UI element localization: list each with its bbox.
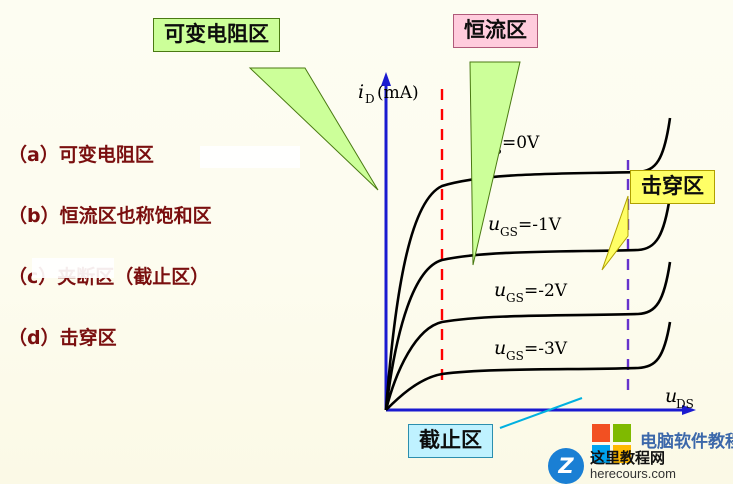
callout-cutoff: 截止区 <box>408 424 493 458</box>
curve-label-ugs-1v: u GS =-1V <box>488 213 562 239</box>
y-axis-label: i D (mA) <box>358 81 419 106</box>
svg-text:u: u <box>494 337 506 359</box>
svg-text:=0V: =0V <box>502 133 540 153</box>
curve-label-ugs-3v: u GS =-3V <box>494 337 568 363</box>
svg-text:DS: DS <box>676 397 694 411</box>
brand-name-cn: 这里教程网 <box>590 451 676 467</box>
list-item: （b）恒流区也称饱和区 <box>8 201 338 228</box>
svg-text:(mA): (mA) <box>377 83 419 103</box>
fet-output-characteristic-chart: i D (mA) u DS u GS =0V u GS =-1V <box>338 60 698 430</box>
white-smudge <box>32 258 114 278</box>
svg-text:GS: GS <box>506 291 524 305</box>
callout-breakdown: 击穿区 <box>630 170 715 204</box>
svg-text:=-1V: =-1V <box>518 215 562 235</box>
slide-canvas: （a）可变电阻区 （b）恒流区也称饱和区 （c）夹断区（截止区） （d）击穿区 <box>0 0 733 484</box>
svg-text:u: u <box>488 213 500 235</box>
svg-text:=-3V: =-3V <box>524 339 568 359</box>
brand-mark-icon: Z <box>548 448 584 484</box>
chart-axes <box>381 72 696 415</box>
brand-url: herecours.com <box>590 467 676 481</box>
brand-watermark: Z 这里教程网 herecours.com <box>548 448 676 484</box>
svg-text:u: u <box>494 279 506 301</box>
svg-text:u: u <box>472 131 484 153</box>
list-item: （d）击穿区 <box>8 323 338 350</box>
white-smudge <box>200 146 300 168</box>
svg-text:=-2V: =-2V <box>524 281 568 301</box>
x-axis-label: u DS <box>665 385 694 411</box>
svg-text:D: D <box>365 92 375 106</box>
curve-label-ugs-0v: u GS =0V <box>472 131 540 157</box>
callout-variable-resistance: 可变电阻区 <box>153 18 280 52</box>
svg-text:GS: GS <box>506 349 524 363</box>
curve-label-ugs-2v: u GS =-2V <box>494 279 568 305</box>
svg-text:GS: GS <box>500 225 518 239</box>
callout-constant-current: 恒流区 <box>453 14 538 48</box>
svg-text:i: i <box>358 81 364 103</box>
svg-text:GS: GS <box>484 143 502 157</box>
